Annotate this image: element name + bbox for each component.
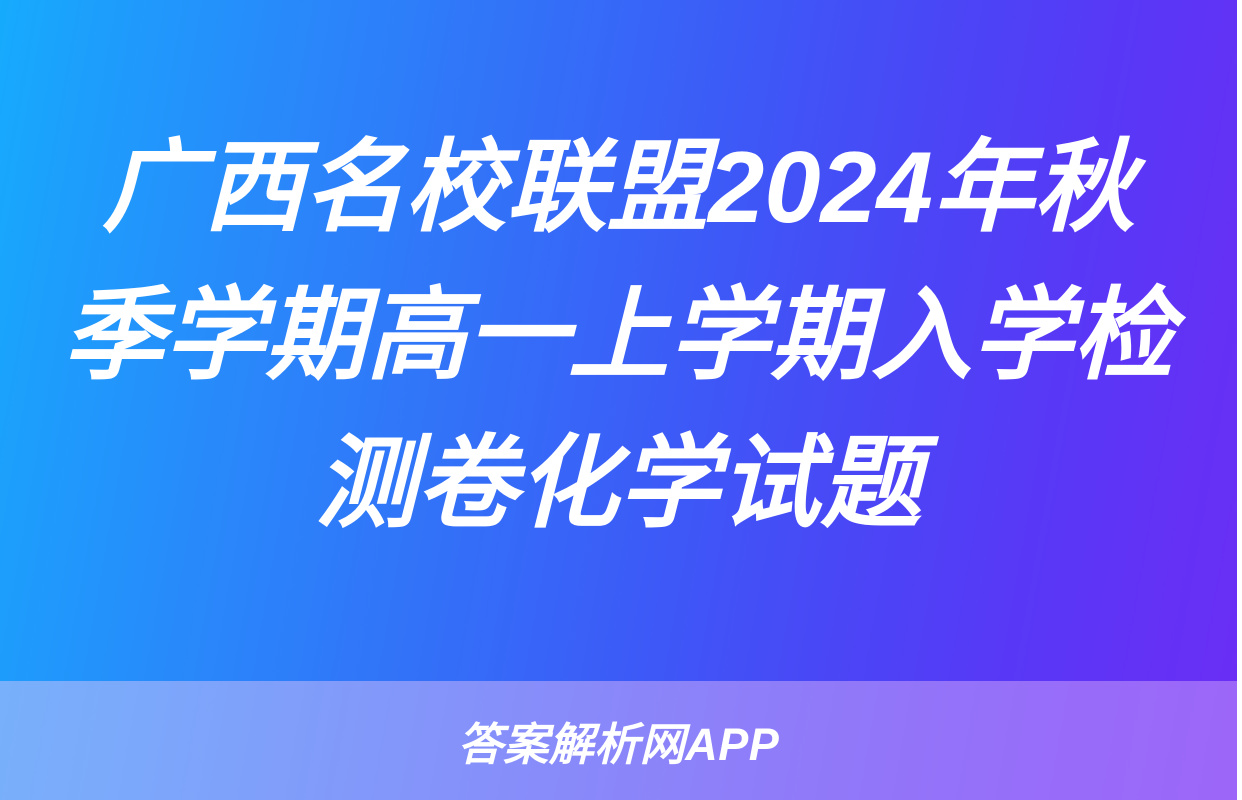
- title-line-1: 广西名校联盟2024年秋: [102, 114, 1135, 262]
- title-line-3: 测卷化学试题: [315, 410, 921, 558]
- exam-cover-card: 广西名校联盟2024年秋 季学期高一上学期入学检 测卷化学试题 答案解析网APP: [0, 0, 1242, 800]
- title-block: 广西名校联盟2024年秋 季学期高一上学期入学检 测卷化学试题: [0, 0, 1237, 681]
- title-line-2: 季学期高一上学期入学检: [63, 262, 1174, 410]
- watermark-container: 答案解析网APP: [0, 681, 1237, 800]
- app-watermark-label: 答案解析网APP: [458, 708, 780, 773]
- right-white-edge: [1237, 0, 1242, 800]
